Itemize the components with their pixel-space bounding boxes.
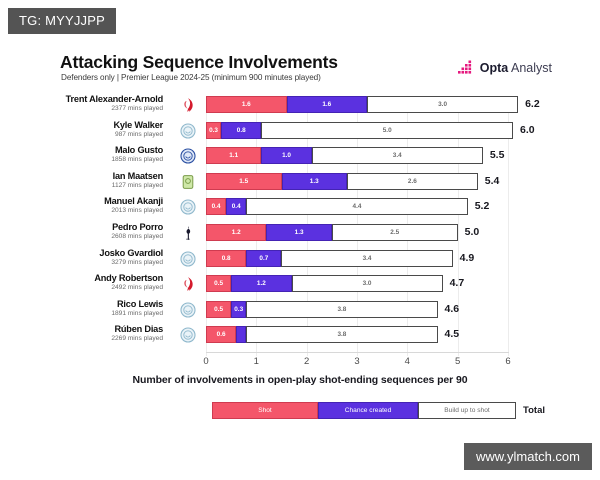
bar-total-value: 6.2: [525, 96, 540, 113]
bar-segment-chance: 0.4: [226, 198, 246, 215]
bar-total-value: 5.4: [485, 173, 500, 190]
club-crest-icon: [180, 174, 196, 190]
player-name: Manuel Akanji: [0, 196, 163, 206]
player-name: Kyle Walker: [0, 120, 163, 130]
bar-total-value: 4.6: [445, 301, 460, 318]
player-label: Manuel Akanji2013 mins played: [0, 196, 163, 214]
bar-row: 0.30.85.0: [206, 122, 513, 139]
player-name: Trent Alexander-Arnold: [0, 94, 163, 104]
x-axis-line: [206, 352, 509, 353]
url-watermark-badge: www.ylmatch.com: [464, 443, 592, 470]
club-crest-icon: [180, 302, 196, 318]
x-tick-label: 0: [203, 356, 208, 367]
player-minutes: 1891 mins played: [0, 310, 163, 317]
bar-segment-buildup: 3.0: [367, 96, 518, 113]
player-name: Andy Robertson: [0, 273, 163, 283]
bar-segment-buildup: 3.4: [281, 250, 452, 267]
bar-segment-chance: [236, 326, 246, 343]
chart-title: Attacking Sequence Involvements: [60, 52, 338, 73]
bar-segment-shot: 1.5: [206, 173, 282, 190]
player-label: Pedro Porro2608 mins played: [0, 222, 163, 240]
brand-analyst: Analyst: [511, 61, 552, 75]
bar-row: 1.21.32.5: [206, 224, 458, 241]
bar-segment-shot: 0.4: [206, 198, 226, 215]
bar-row: 0.50.33.8: [206, 301, 438, 318]
bar-total-value: 5.0: [465, 224, 480, 241]
player-label: Andy Robertson2492 mins played: [0, 273, 163, 291]
bar-row: 0.63.8: [206, 326, 438, 343]
club-crest-icon: [180, 276, 196, 292]
brand-text: Opta Analyst: [480, 61, 552, 75]
x-tick-label: 5: [455, 356, 460, 367]
club-crest-icon: [180, 123, 196, 139]
x-axis-title: Number of involvements in open-play shot…: [0, 374, 600, 386]
x-tick-label: 6: [505, 356, 510, 367]
x-tick-label: 1: [254, 356, 259, 367]
club-crest-icon: [180, 327, 196, 343]
bar-total-value: 6.0: [520, 122, 535, 139]
bar-plot-area: 1.61.63.00.30.85.01.11.03.41.51.32.60.40…: [206, 96, 508, 352]
player-label: Trent Alexander-Arnold2377 mins played: [0, 94, 163, 112]
player-name: Malo Gusto: [0, 145, 163, 155]
bar-segment-buildup: 3.8: [246, 326, 437, 343]
chart-subtitle: Defenders only | Premier League 2024-25 …: [61, 73, 321, 82]
bar-segment-chance: 1.2: [231, 275, 291, 292]
bar-segment-buildup: 2.5: [332, 224, 458, 241]
bar-segment-chance: 0.8: [221, 122, 261, 139]
x-tick-label: 4: [405, 356, 410, 367]
club-crest-icon: [180, 97, 196, 113]
club-crest-icon: [180, 251, 196, 267]
club-crest-icon: [180, 225, 196, 241]
x-tick-label: 2: [304, 356, 309, 367]
bar-segment-chance: 0.3: [231, 301, 246, 318]
bar-total-value: 4.7: [450, 275, 465, 292]
player-label: Rúben Dias2269 mins played: [0, 324, 163, 342]
x-tick-label: 3: [354, 356, 359, 367]
bar-segment-buildup: 3.8: [246, 301, 437, 318]
bar-segment-chance: 1.3: [266, 224, 331, 241]
opta-dot-matrix-icon: [458, 60, 475, 75]
bar-segment-shot: 0.5: [206, 275, 231, 292]
player-label: Rico Lewis1891 mins played: [0, 299, 163, 317]
player-minutes: 2608 mins played: [0, 233, 163, 240]
bar-row: 0.80.73.4: [206, 250, 453, 267]
bar-segment-chance: 1.0: [261, 147, 311, 164]
chart-page: TG: MYYJJPP Attacking Sequence Involveme…: [0, 0, 600, 480]
legend-item-chance-created: Chance created: [318, 402, 418, 419]
player-minutes: 1858 mins played: [0, 156, 163, 163]
player-label: Malo Gusto1858 mins played: [0, 145, 163, 163]
chart-legend: Shot Chance created Build up to shot Tot…: [212, 402, 545, 419]
player-name: Rico Lewis: [0, 299, 163, 309]
bar-segment-buildup: 3.4: [312, 147, 483, 164]
player-minutes: 1127 mins played: [0, 182, 163, 189]
bar-segment-shot: 0.3: [206, 122, 221, 139]
bar-segment-shot: 1.6: [206, 96, 287, 113]
bar-segment-buildup: 3.0: [292, 275, 443, 292]
bar-segment-shot: 1.1: [206, 147, 261, 164]
player-minutes: 2013 mins played: [0, 207, 163, 214]
player-minutes: 2269 mins played: [0, 335, 163, 342]
player-label: Kyle Walker987 mins played: [0, 120, 163, 138]
player-name: Josko Gvardiol: [0, 248, 163, 258]
bar-segment-buildup: 2.6: [347, 173, 478, 190]
legend-item-build-up: Build up to shot: [418, 402, 516, 419]
bar-row: 1.51.32.6: [206, 173, 478, 190]
player-name: Rúben Dias: [0, 324, 163, 334]
player-minutes: 3279 mins played: [0, 259, 163, 266]
club-crest-icon: [180, 148, 196, 164]
player-label: Ian Maatsen1127 mins played: [0, 171, 163, 189]
bar-segment-chance: 0.7: [246, 250, 281, 267]
player-minutes: 987 mins played: [0, 131, 163, 138]
bar-segment-shot: 0.5: [206, 301, 231, 318]
player-name: Ian Maatsen: [0, 171, 163, 181]
bar-total-value: 4.5: [445, 326, 460, 343]
bar-row: 0.51.23.0: [206, 275, 443, 292]
bar-row: 1.61.63.0: [206, 96, 518, 113]
bar-segment-shot: 1.2: [206, 224, 266, 241]
club-crest-icon: [180, 199, 196, 215]
player-label: Josko Gvardiol3279 mins played: [0, 248, 163, 266]
tg-watermark-badge: TG: MYYJJPP: [8, 8, 116, 34]
bar-segment-shot: 0.8: [206, 250, 246, 267]
legend-item-shot: Shot: [212, 402, 318, 419]
bar-row: 0.40.44.4: [206, 198, 468, 215]
opta-analyst-logo: Opta Analyst: [458, 60, 552, 75]
bar-segment-buildup: 4.4: [246, 198, 467, 215]
bar-segment-shot: 0.6: [206, 326, 236, 343]
player-minutes: 2492 mins played: [0, 284, 163, 291]
brand-opta: Opta: [480, 61, 508, 75]
bar-segment-buildup: 5.0: [261, 122, 513, 139]
bar-row: 1.11.03.4: [206, 147, 483, 164]
bar-segment-chance: 1.6: [287, 96, 368, 113]
player-minutes: 2377 mins played: [0, 105, 163, 112]
bar-segment-chance: 1.3: [282, 173, 347, 190]
bar-total-value: 5.5: [490, 147, 505, 164]
bar-total-value: 5.2: [475, 198, 490, 215]
bar-total-value: 4.9: [460, 250, 475, 267]
player-name: Pedro Porro: [0, 222, 163, 232]
legend-item-total: Total: [523, 402, 545, 419]
